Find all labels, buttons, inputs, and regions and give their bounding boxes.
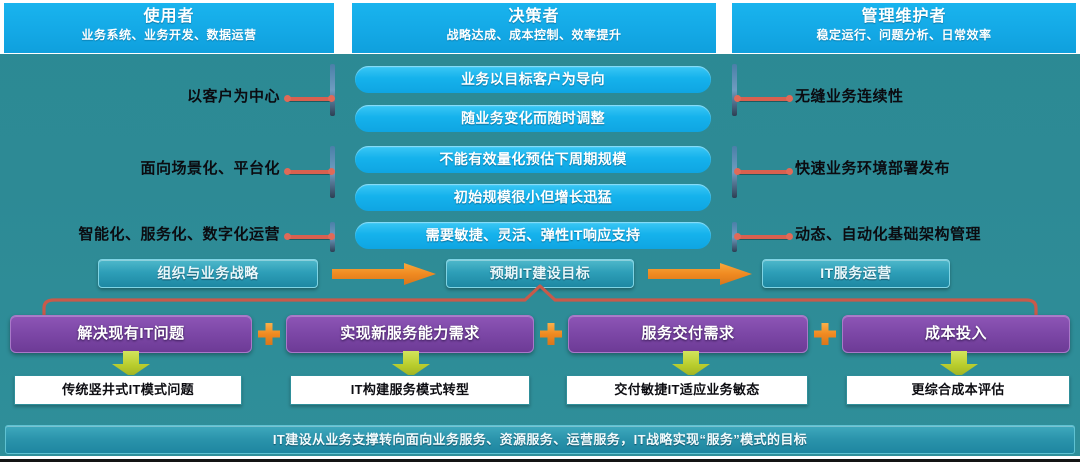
left-label-scenario-platform: 面向场景化、平台化 bbox=[10, 160, 280, 178]
right-arrow-icon bbox=[648, 263, 752, 285]
aggregation-bracket bbox=[0, 286, 1080, 318]
connector-line-left-1 bbox=[286, 97, 332, 101]
requirement-capsule[interactable]: 随业务变化而随时调整 bbox=[355, 105, 711, 132]
connector-dot-right-1b bbox=[786, 95, 793, 102]
left-label-customer-centric: 以客户为中心 bbox=[30, 88, 280, 106]
flow-step-expected-it-goal[interactable]: 预期IT建设目标 bbox=[446, 259, 634, 288]
connector-dot-right-2 bbox=[734, 168, 741, 175]
role-title: 使用者 bbox=[4, 7, 334, 27]
down-arrow-icon bbox=[112, 351, 150, 377]
connector-line-right-3 bbox=[736, 235, 790, 239]
plus-icon bbox=[258, 323, 280, 345]
role-subtitle: 战略达成、成本控制、效率提升 bbox=[352, 27, 716, 43]
connector-dot-left-3b bbox=[328, 233, 335, 240]
connector-dot-left-2 bbox=[284, 168, 291, 175]
demand-box-service-delivery[interactable]: 服务交付需求 bbox=[568, 315, 808, 353]
flow-step-business-strategy[interactable]: 组织与业务战略 bbox=[98, 259, 318, 288]
connector-dot-left-2b bbox=[328, 168, 335, 175]
role-subtitle: 稳定运行、问题分析、日常效率 bbox=[732, 27, 1076, 43]
diagram-canvas: 使用者 业务系统、业务开发、数据运营 决策者 战略达成、成本控制、效率提升 管理… bbox=[0, 0, 1080, 462]
role-title: 决策者 bbox=[352, 7, 716, 27]
requirement-capsule[interactable]: 不能有效量化预估下周期规模 bbox=[355, 146, 711, 173]
right-label-dynamic-automation: 动态、自动化基础架构管理 bbox=[795, 226, 1077, 244]
connector-dot-left-1 bbox=[284, 95, 291, 102]
left-label-intelligent-service-digital: 智能化、服务化、数字化运营 bbox=[2, 226, 280, 244]
role-card-user[interactable]: 使用者 业务系统、业务开发、数据运营 bbox=[4, 3, 334, 53]
role-card-decision-maker[interactable]: 决策者 战略达成、成本控制、效率提升 bbox=[352, 3, 716, 53]
demand-box-existing-it-problems[interactable]: 解决现有IT问题 bbox=[10, 315, 252, 353]
down-arrow-icon bbox=[940, 351, 978, 377]
flow-step-it-service-operation[interactable]: IT服务运营 bbox=[762, 259, 950, 288]
connector-line-left-2 bbox=[286, 170, 332, 174]
requirement-capsule[interactable]: 初始规模很小但增长迅猛 bbox=[355, 184, 711, 211]
connector-line-right-2 bbox=[736, 170, 790, 174]
outcome-box-comprehensive-cost[interactable]: 更综合成本评估 bbox=[846, 375, 1070, 405]
right-arrow-icon bbox=[332, 263, 436, 285]
outcome-box-it-service-transformation[interactable]: IT构建服务模式转型 bbox=[290, 375, 530, 405]
role-title: 管理维护者 bbox=[732, 7, 1076, 27]
footer-statement-banner: IT建设从业务支撑转向面向业务服务、资源服务、运营服务，IT战略实现“服务”模式… bbox=[5, 425, 1075, 454]
right-label-business-continuity: 无缝业务连续性 bbox=[795, 88, 1065, 106]
role-subtitle: 业务系统、业务开发、数据运营 bbox=[4, 27, 334, 43]
requirement-capsule[interactable]: 需要敏捷、灵活、弹性IT响应支持 bbox=[355, 222, 711, 249]
down-arrow-icon bbox=[672, 351, 710, 377]
plus-icon bbox=[814, 323, 836, 345]
demand-box-cost-investment[interactable]: 成本投入 bbox=[842, 315, 1070, 353]
down-arrow-icon bbox=[392, 351, 430, 377]
connector-dot-left-1b bbox=[328, 95, 335, 102]
demand-box-new-service-capability[interactable]: 实现新服务能力需求 bbox=[286, 315, 534, 353]
connector-dot-right-2b bbox=[786, 168, 793, 175]
plus-icon bbox=[540, 323, 562, 345]
requirement-capsule[interactable]: 业务以目标客户为导向 bbox=[355, 66, 711, 93]
right-label-fast-deploy: 快速业务环境部署发布 bbox=[795, 160, 1065, 178]
connector-dot-right-1 bbox=[734, 95, 741, 102]
role-card-administrator[interactable]: 管理维护者 稳定运行、问题分析、日常效率 bbox=[732, 3, 1076, 53]
connector-dot-right-3b bbox=[786, 233, 793, 240]
divider-upright-left-1 bbox=[330, 64, 335, 116]
connector-dot-left-3 bbox=[284, 233, 291, 240]
connector-line-left-3 bbox=[286, 235, 332, 239]
connector-line-right-1 bbox=[736, 97, 790, 101]
connector-dot-right-3 bbox=[734, 233, 741, 240]
divider-upright-right-1 bbox=[732, 64, 737, 116]
outcome-box-agile-delivery[interactable]: 交付敏捷IT适应业务敏态 bbox=[566, 375, 808, 405]
outcome-box-silo-it-problem[interactable]: 传统竖井式IT模式问题 bbox=[14, 375, 242, 405]
